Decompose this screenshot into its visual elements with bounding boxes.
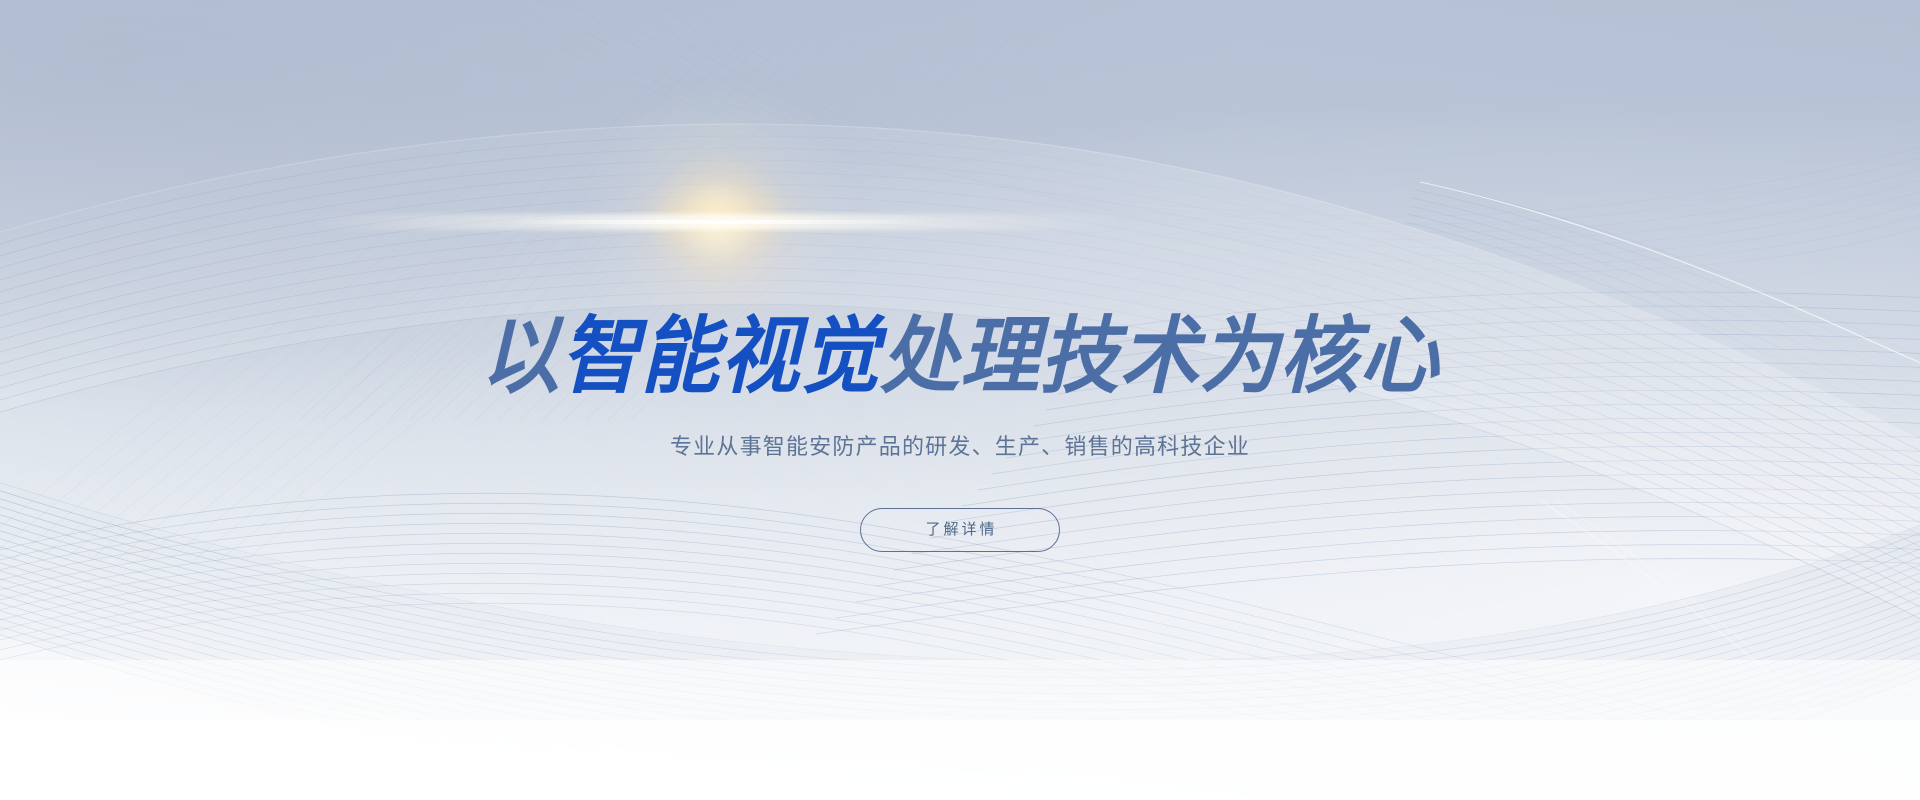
hero-content: 以智能视觉处理技术为核心 专业从事智能安防产品的研发、生产、销售的高科技企业 了… — [0, 0, 1920, 800]
hero-subtitle: 专业从事智能安防产品的研发、生产、销售的高科技企业 — [0, 430, 1920, 463]
headline-segment-3: 处理技术为核心 — [880, 309, 1439, 403]
cta-container: 了解详情 — [0, 508, 1920, 552]
hero-banner: 以智能视觉处理技术为核心 专业从事智能安防产品的研发、生产、销售的高科技企业 了… — [0, 0, 1920, 800]
learn-more-button[interactable]: 了解详情 — [860, 508, 1060, 552]
headline-segment-1: 以 — [481, 309, 561, 403]
page-title: 以智能视觉处理技术为核心 — [58, 314, 1863, 398]
headline-segment-highlight: 智能视觉 — [560, 309, 880, 403]
